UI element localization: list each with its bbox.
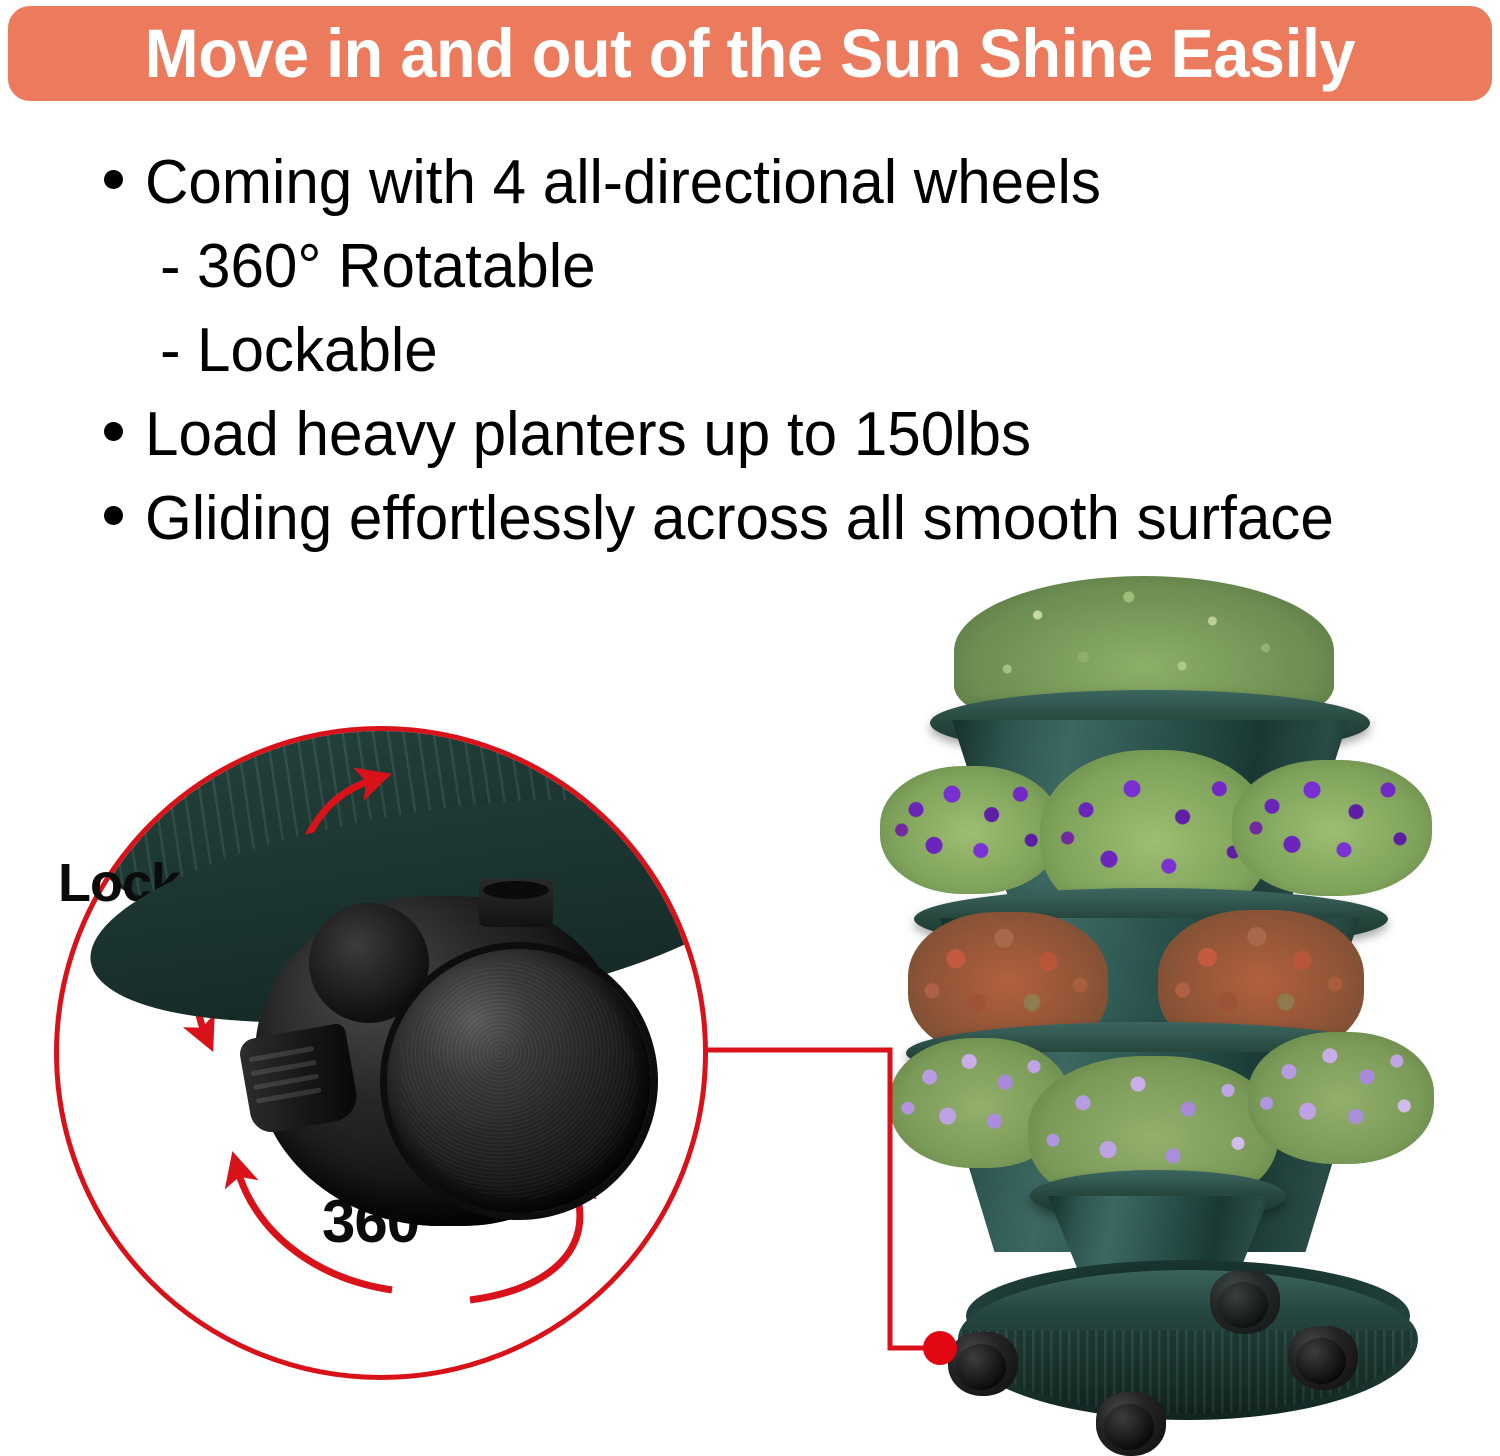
bullet-point-icon <box>104 422 123 441</box>
list-item: Gliding effortlessly across all smooth s… <box>104 488 1484 550</box>
page-title: Move in and out of the Sun Shine Easily <box>145 19 1356 88</box>
list-item: Coming with 4 all-directional wheels <box>104 152 1484 214</box>
caster-brake-lever <box>237 1022 360 1135</box>
header-banner: Move in and out of the Sun Shine Easily <box>8 6 1492 101</box>
base-caster-right <box>1288 1326 1358 1390</box>
caster-stem-cap <box>483 881 549 899</box>
list-item: - 360° Rotatable <box>104 236 1484 298</box>
list-item-label: Gliding effortlessly across all smooth s… <box>145 488 1334 550</box>
caster-wheel-tread <box>387 949 651 1213</box>
list-item-label: Lockable <box>197 320 438 382</box>
feature-list: Coming with 4 all-directional wheels - 3… <box>104 152 1484 572</box>
bullet-point-icon <box>104 170 123 189</box>
dash-marker-icon: - <box>160 320 181 382</box>
dash-marker-icon: - <box>160 236 181 298</box>
base-caster-front-left <box>948 1332 1018 1396</box>
list-item-label: 360° Rotatable <box>197 236 596 298</box>
list-item: - Lockable <box>104 320 1484 382</box>
base-caster-front-center <box>1096 1392 1166 1456</box>
list-item-label: Coming with 4 all-directional wheels <box>145 152 1101 214</box>
foliage-purple-pansy-left <box>880 766 1060 894</box>
foliage-lilac-lobelia-right <box>1248 1032 1434 1164</box>
planter-tower <box>880 570 1500 1453</box>
foliage-purple-pansy-right <box>1232 760 1432 896</box>
list-item-label: Load heavy planters up to 150lbs <box>145 404 1031 466</box>
bullet-point-icon <box>104 506 123 525</box>
base-caster-rear <box>1210 1270 1280 1334</box>
caster-callout-circle <box>54 726 708 1380</box>
list-item: Load heavy planters up to 150lbs <box>104 404 1484 466</box>
callout-circle-outline <box>54 726 708 1380</box>
